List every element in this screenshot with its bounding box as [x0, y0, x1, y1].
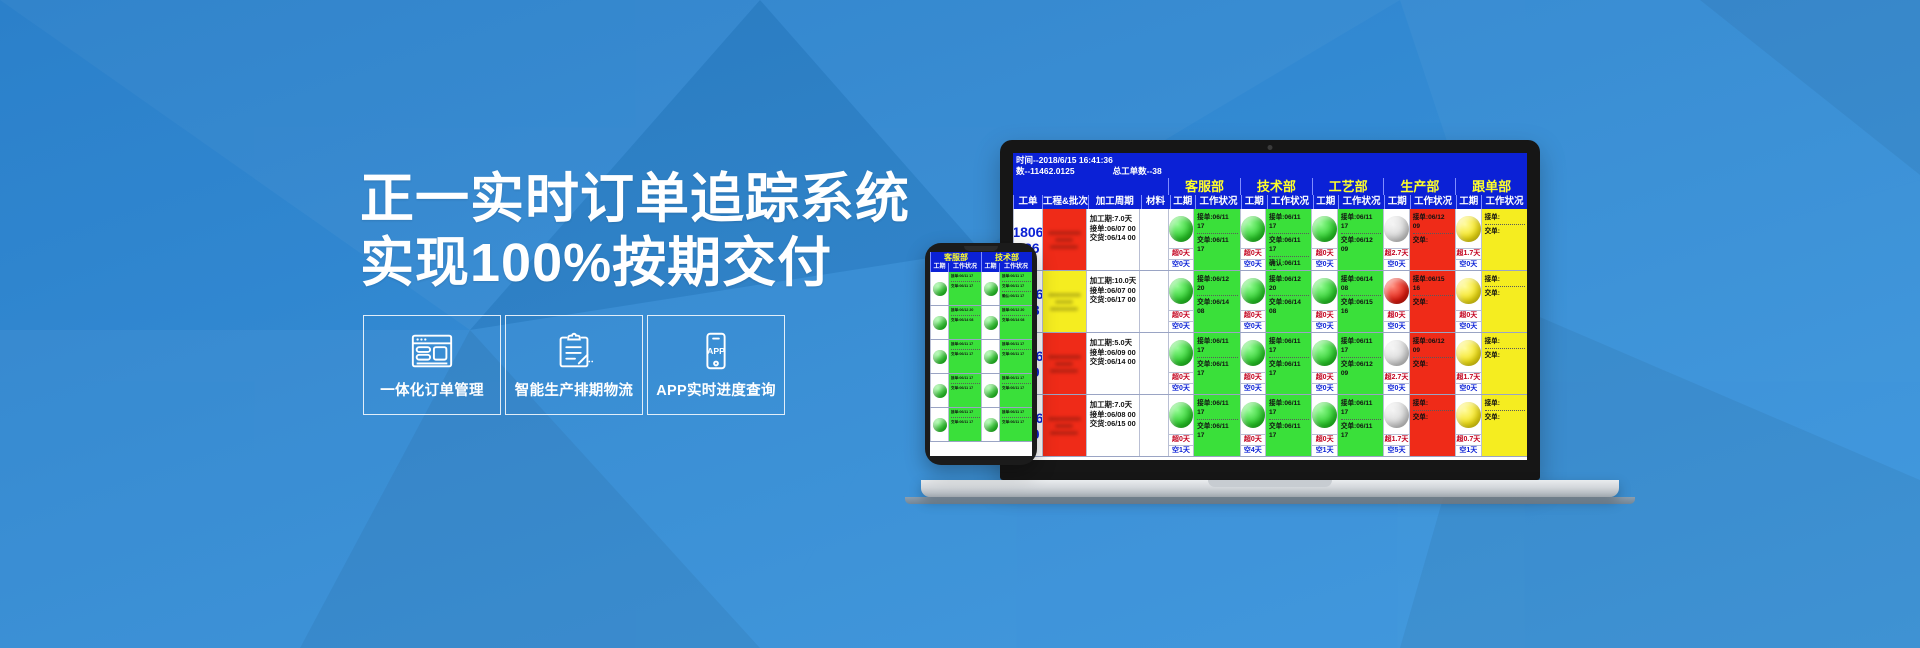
dashboard-info-bar: 时间--2018/6/15 16:41:36数--11462.0125总工单数-…	[1013, 153, 1527, 178]
over-days-metric: 超0天	[1169, 310, 1193, 321]
over-days-metric: 超0天	[1241, 434, 1265, 445]
feature-box-list: 一体化订单管理 智能生产排期物流 APP APP实时进度查询	[363, 315, 785, 415]
project-batch-cell[interactable]	[1042, 395, 1086, 456]
idle-days-metric: 空0天	[1384, 259, 1408, 270]
over-days-metric: 超0天	[1312, 248, 1336, 259]
dept-duration-cell[interactable]	[981, 306, 999, 339]
status-lamp	[1456, 216, 1480, 242]
table-row[interactable]: 1806040加工期:7.0天接单:06/08 00交货:06/15 00超0天…	[1013, 395, 1527, 457]
status-lamp	[984, 282, 998, 296]
hero-banner: 正一实时订单追踪系统 实现100%按期交付 一体化订单管理	[0, 0, 1920, 648]
over-days-metric: 超0.7天	[1456, 434, 1480, 445]
dept-duration-cell[interactable]	[930, 408, 948, 441]
dept-status-cell[interactable]: 接单:06/11 17交单:06/11 17	[1265, 395, 1311, 456]
idle-days-metric: 空0天	[1169, 321, 1193, 332]
status-lamp	[933, 282, 947, 296]
over-days-metric: 超0天	[1241, 310, 1265, 321]
dept-duration-cell[interactable]: 超0天空0天	[1455, 271, 1480, 332]
column-header[interactable]: 工作状况	[948, 263, 981, 272]
over-days-metric: 超0天	[1384, 310, 1408, 321]
dept-status-cell[interactable]: 接单:06/12 09交单:	[1409, 333, 1455, 394]
dept-status-cell[interactable]: 接单:06/12 20交单:06/14 08	[1265, 271, 1311, 332]
status-lamp	[1241, 278, 1265, 304]
department-band: 客服部技术部工艺部生产部跟单部	[1013, 178, 1527, 195]
dept-duration-cell[interactable]: 超0天空0天	[1383, 271, 1408, 332]
dept-duration-cell[interactable]: 超0天空0天	[1311, 333, 1336, 394]
laptop-lid: 时间--2018/6/15 16:41:36数--11462.0125总工单数-…	[1000, 140, 1540, 480]
department-header[interactable]: 工艺部	[1312, 178, 1384, 195]
project-batch-cell[interactable]	[1042, 209, 1086, 270]
dept-status-cell[interactable]: 接单:交单:	[1481, 209, 1527, 270]
idle-days-metric: 空0天	[1384, 383, 1408, 394]
idle-days-metric: 空0天	[1241, 321, 1265, 332]
column-header[interactable]: 工期	[1384, 195, 1410, 209]
department-header[interactable]: 客服部	[1168, 178, 1240, 195]
column-header[interactable]: 工期	[930, 263, 948, 272]
feature-card-order-management[interactable]: 一体化订单管理	[363, 315, 501, 415]
material-cell[interactable]	[1139, 271, 1168, 332]
idle-days-metric: 空0天	[1312, 259, 1336, 270]
dept-status-cell[interactable]: 接单:交单:	[1409, 395, 1455, 456]
over-days-metric: 超0天	[1241, 372, 1265, 383]
idle-days-metric: 空0天	[1456, 259, 1480, 270]
idle-days-metric: 空1天	[1169, 445, 1193, 456]
feature-label: 智能生产排期物流	[515, 379, 633, 400]
idle-days-metric: 空1天	[1312, 445, 1336, 456]
dept-status-cell[interactable]: 接单:06/14 08交单:06/15 16	[1337, 271, 1383, 332]
over-days-metric: 超0天	[1312, 372, 1336, 383]
status-lamp	[1312, 402, 1336, 428]
dept-duration-cell[interactable]: 超0天空0天	[1168, 333, 1193, 394]
material-cell[interactable]	[1139, 333, 1168, 394]
app-badge-text: APP	[707, 346, 725, 356]
status-lamp	[1456, 402, 1480, 428]
status-lamp	[933, 350, 947, 364]
column-header[interactable]: 工作状况	[999, 263, 1032, 272]
processing-cycle-cell[interactable]: 加工期:10.0天接单:06/07 00交货:06/17 00	[1086, 271, 1139, 332]
status-lamp	[1169, 278, 1193, 304]
status-lamp	[984, 350, 998, 364]
dept-duration-cell[interactable]: 超0天空0天	[1240, 271, 1265, 332]
dept-status-cell[interactable]: 接单:06/11 17交单:06/11 17	[1265, 333, 1311, 394]
feature-card-production-scheduling[interactable]: 智能生产排期物流	[505, 315, 643, 415]
headline-line-1: 正一实时订单追踪系统	[360, 168, 1000, 232]
table-row[interactable]: 接单:06/11 17交单:06/11 17接单:06/11 17交单:06/1…	[930, 408, 1032, 442]
column-header[interactable]: 加工周期	[1088, 195, 1141, 209]
dept-duration-cell[interactable]: 超0天空0天	[1168, 209, 1193, 270]
dept-duration-cell[interactable]: 超0.7天空1天	[1455, 395, 1480, 456]
status-lamp	[1169, 402, 1193, 428]
dept-status-cell[interactable]: 接单:06/12 09交单:	[1409, 209, 1455, 270]
dept-duration-cell[interactable]: 超0天空0天	[1311, 209, 1336, 270]
status-lamp	[984, 384, 998, 398]
dept-status-cell[interactable]: 接单:06/11 17交单:06/11 17	[1193, 209, 1239, 270]
dept-duration-cell[interactable]: 超0天空0天	[1168, 271, 1193, 332]
status-lamp	[933, 384, 947, 398]
column-header[interactable]: 工期	[981, 263, 999, 272]
department-header[interactable]: 客服部	[930, 252, 981, 263]
status-lamp	[933, 418, 947, 432]
dept-status-cell[interactable]: 接单:06/15 16交单:	[1409, 271, 1455, 332]
dept-duration-cell[interactable]: 超1.7天空5天	[1383, 395, 1408, 456]
info-time: 时间--2018/6/15 16:41:36	[1016, 155, 1524, 166]
processing-cycle-cell[interactable]: 加工期:7.0天接单:06/07 00交货:06/14 00	[1086, 209, 1139, 270]
headline-line-2: 实现100%按期交付	[360, 232, 1000, 296]
idle-days-metric: 空0天	[1169, 383, 1193, 394]
over-days-metric: 超0天	[1169, 372, 1193, 383]
department-header[interactable]: 技术部	[981, 252, 1032, 263]
laptop-base-shadow	[905, 497, 1635, 504]
status-lamp	[933, 316, 947, 330]
column-header[interactable]: 工作状况	[1338, 195, 1384, 209]
column-header[interactable]: 工期	[1170, 195, 1196, 209]
dept-status-cell[interactable]: 接单:06/11 17交单:06/11 17	[1193, 395, 1239, 456]
processing-cycle-cell[interactable]: 加工期:5.0天接单:06/09 00交货:06/14 00	[1086, 333, 1139, 394]
dept-status-cell[interactable]: 接单:06/11 17交单:06/11 17	[999, 374, 1032, 407]
over-days-metric: 超0天	[1241, 248, 1265, 259]
info-count: 数--11462.0125	[1016, 166, 1075, 177]
dept-duration-cell[interactable]	[981, 408, 999, 441]
dept-duration-cell[interactable]: 超0天空1天	[1311, 395, 1336, 456]
dept-status-cell[interactable]: 接单:06/12 20交单:06/14 08	[999, 306, 1032, 339]
dept-status-cell[interactable]: 接单:06/11 17交单:06/11 17确认:06/11 17	[1265, 209, 1311, 270]
column-header[interactable]: 工期	[1241, 195, 1267, 209]
material-cell[interactable]	[1139, 395, 1168, 456]
status-lamp	[1312, 216, 1336, 242]
column-header[interactable]: 工作状况	[1410, 195, 1456, 209]
idle-days-metric: 空0天	[1384, 321, 1408, 332]
status-lamp	[1384, 340, 1408, 366]
dept-status-cell[interactable]: 接单:交单:	[1481, 271, 1527, 332]
phone-app-icon: APP	[693, 330, 739, 372]
laptop-screen: 时间--2018/6/15 16:41:36数--11462.0125总工单数-…	[1013, 153, 1527, 460]
status-lamp	[1169, 216, 1193, 242]
status-lamp	[1241, 402, 1265, 428]
column-header[interactable]: 工作状况	[1267, 195, 1313, 209]
mobile-column-header-row: 工期工作状况工期工作状况	[930, 263, 1032, 272]
status-lamp	[1241, 340, 1265, 366]
dept-status-cell[interactable]: 接单:06/11 17交单:06/11 17	[1337, 395, 1383, 456]
status-lamp	[984, 316, 998, 330]
over-days-metric: 超0天	[1312, 434, 1336, 445]
dept-duration-cell[interactable]	[930, 340, 948, 373]
info-total: 总工单数--38	[1113, 166, 1162, 177]
status-lamp	[1384, 216, 1408, 242]
dept-status-cell[interactable]: 接单:06/11 17交单:06/11 17	[948, 272, 981, 305]
dept-status-cell[interactable]: 接单:06/11 17交单:06/12 09	[1337, 333, 1383, 394]
status-lamp	[1384, 278, 1408, 304]
mobile-department-band: 客服部技术部	[930, 252, 1032, 263]
project-batch-cell[interactable]	[1042, 333, 1086, 394]
feature-card-app-progress-query[interactable]: APP APP实时进度查询	[647, 315, 785, 415]
dept-status-cell[interactable]: 接单:06/11 17交单:06/11 17	[948, 408, 981, 441]
department-header[interactable]: 跟单部	[1455, 178, 1527, 195]
table-row[interactable]: 接单:06/11 17交单:06/11 17接单:06/11 17交单:06/1…	[930, 374, 1032, 408]
dept-status-cell[interactable]: 接单:06/12 20交单:06/14 08	[1193, 271, 1239, 332]
window-icon	[409, 330, 455, 372]
column-header[interactable]: 工作状况	[1481, 195, 1527, 209]
dept-status-cell[interactable]: 接单:06/11 17交单:06/11 17	[948, 374, 981, 407]
idle-days-metric: 空0天	[1456, 383, 1480, 394]
phone-screen: 客服部技术部工期工作状况工期工作状况接单:06/11 17交单:06/11 17…	[930, 252, 1032, 456]
idle-days-metric: 空4天	[1241, 445, 1265, 456]
dept-status-cell[interactable]: 接单:06/12 20交单:06/14 08	[948, 306, 981, 339]
dept-duration-cell[interactable]: 超1.7天空0天	[1455, 209, 1480, 270]
dept-duration-cell[interactable]	[981, 272, 999, 305]
project-batch-cell[interactable]	[1042, 271, 1086, 332]
idle-days-metric: 空0天	[1312, 383, 1336, 394]
clipboard-icon	[551, 330, 597, 372]
order-tracking-dashboard[interactable]: 时间--2018/6/15 16:41:36数--11462.0125总工单数-…	[1013, 153, 1527, 460]
table-row[interactable]: 接单:06/11 17交单:06/11 17接单:06/11 17交单:06/1…	[930, 272, 1032, 306]
dept-status-cell[interactable]: 接单:交单:	[1481, 395, 1527, 456]
dept-duration-cell[interactable]	[981, 340, 999, 373]
mobile-order-tracking-dashboard[interactable]: 客服部技术部工期工作状况工期工作状况接单:06/11 17交单:06/11 17…	[930, 252, 1032, 456]
status-lamp	[1241, 216, 1265, 242]
dept-duration-cell[interactable]	[930, 306, 948, 339]
column-header[interactable]: 工单	[1013, 195, 1042, 209]
laptop-mockup: 时间--2018/6/15 16:41:36数--11462.0125总工单数-…	[1000, 140, 1540, 480]
column-header-row: 工单工程&批次加工周期材料工期工作状况工期工作状况工期工作状况工期工作状况工期工…	[1013, 195, 1527, 209]
table-row[interactable]: 1806038加工期:10.0天接单:06/07 00交货:06/17 00超0…	[1013, 271, 1527, 333]
processing-cycle-cell[interactable]: 加工期:7.0天接单:06/08 00交货:06/15 00	[1086, 395, 1139, 456]
status-lamp	[1456, 340, 1480, 366]
table-row[interactable]: 1806036加工期:7.0天接单:06/07 00交货:06/14 00超0天…	[1013, 209, 1527, 271]
column-header[interactable]: 工期	[1456, 195, 1482, 209]
dept-status-cell[interactable]: 接单:06/11 17交单:06/11 17确认:06/11 17	[999, 272, 1032, 305]
dept-duration-cell[interactable]: 超2.7天空0天	[1383, 209, 1408, 270]
feature-label: APP实时进度查询	[656, 379, 776, 400]
status-lamp	[1384, 402, 1408, 428]
status-lamp	[984, 418, 998, 432]
idle-days-metric: 空1天	[1456, 445, 1480, 456]
dept-status-cell[interactable]: 接单:06/11 17交单:06/11 17	[999, 340, 1032, 373]
dept-duration-cell[interactable]: 超2.7天空0天	[1383, 333, 1408, 394]
table-row[interactable]: 接单:06/11 17交单:06/11 17接单:06/11 17交单:06/1…	[930, 340, 1032, 374]
over-days-metric: 超0天	[1456, 310, 1480, 321]
status-lamp	[1169, 340, 1193, 366]
status-lamp	[1312, 340, 1336, 366]
dept-duration-cell[interactable]: 超0天空1天	[1168, 395, 1193, 456]
idle-days-metric: 空0天	[1241, 259, 1265, 270]
column-header[interactable]: 工作状况	[1195, 195, 1241, 209]
dept-status-cell[interactable]: 接单:交单:	[1481, 333, 1527, 394]
column-header[interactable]: 工程&批次	[1042, 195, 1088, 209]
department-header[interactable]: 技术部	[1240, 178, 1312, 195]
dept-status-cell[interactable]: 接单:06/11 17交单:06/11 17	[999, 408, 1032, 441]
dept-status-cell[interactable]: 接单:06/11 17交单:06/11 17	[948, 340, 981, 373]
table-row[interactable]: 1806039加工期:5.0天接单:06/09 00交货:06/14 00超0天…	[1013, 333, 1527, 395]
over-days-metric: 超1.7天	[1384, 434, 1408, 445]
over-days-metric: 超0天	[1169, 434, 1193, 445]
dept-duration-cell[interactable]: 超0天空0天	[1240, 333, 1265, 394]
idle-days-metric: 空5天	[1384, 445, 1408, 456]
dept-duration-cell[interactable]: 超0天空4天	[1240, 395, 1265, 456]
material-cell[interactable]	[1139, 209, 1168, 270]
over-days-metric: 超0天	[1312, 310, 1336, 321]
feature-label: 一体化订单管理	[380, 379, 484, 400]
department-header[interactable]: 生产部	[1383, 178, 1455, 195]
status-lamp	[1456, 278, 1480, 304]
idle-days-metric: 空0天	[1169, 259, 1193, 270]
phone-mockup: 客服部技术部工期工作状况工期工作状况接单:06/11 17交单:06/11 17…	[925, 243, 1037, 465]
over-days-metric: 超1.7天	[1456, 248, 1480, 259]
dept-status-cell[interactable]: 接单:06/11 17交单:06/11 17	[1193, 333, 1239, 394]
dept-duration-cell[interactable]: 超0天空0天	[1311, 271, 1336, 332]
dept-status-cell[interactable]: 接单:06/11 17交单:06/12 09	[1337, 209, 1383, 270]
over-days-metric: 超1.7天	[1456, 372, 1480, 383]
over-days-metric: 超2.7天	[1384, 372, 1408, 383]
dept-duration-cell[interactable]	[930, 374, 948, 407]
dept-duration-cell[interactable]: 超1.7天空0天	[1455, 333, 1480, 394]
laptop-base	[921, 480, 1619, 497]
hero-copy: 正一实时订单追踪系统 实现100%按期交付	[360, 168, 1000, 295]
column-header[interactable]: 材料	[1141, 195, 1170, 209]
dept-duration-cell[interactable]: 超0天空0天	[1240, 209, 1265, 270]
idle-days-metric: 空0天	[1312, 321, 1336, 332]
table-row[interactable]: 接单:06/12 20交单:06/14 08接单:06/12 20交单:06/1…	[930, 306, 1032, 340]
column-header[interactable]: 工期	[1313, 195, 1339, 209]
idle-days-metric: 空0天	[1456, 321, 1480, 332]
dept-duration-cell[interactable]	[930, 272, 948, 305]
over-days-metric: 超0天	[1169, 248, 1193, 259]
dept-duration-cell[interactable]	[981, 374, 999, 407]
status-lamp	[1312, 278, 1336, 304]
over-days-metric: 超2.7天	[1384, 248, 1408, 259]
idle-days-metric: 空0天	[1241, 383, 1265, 394]
